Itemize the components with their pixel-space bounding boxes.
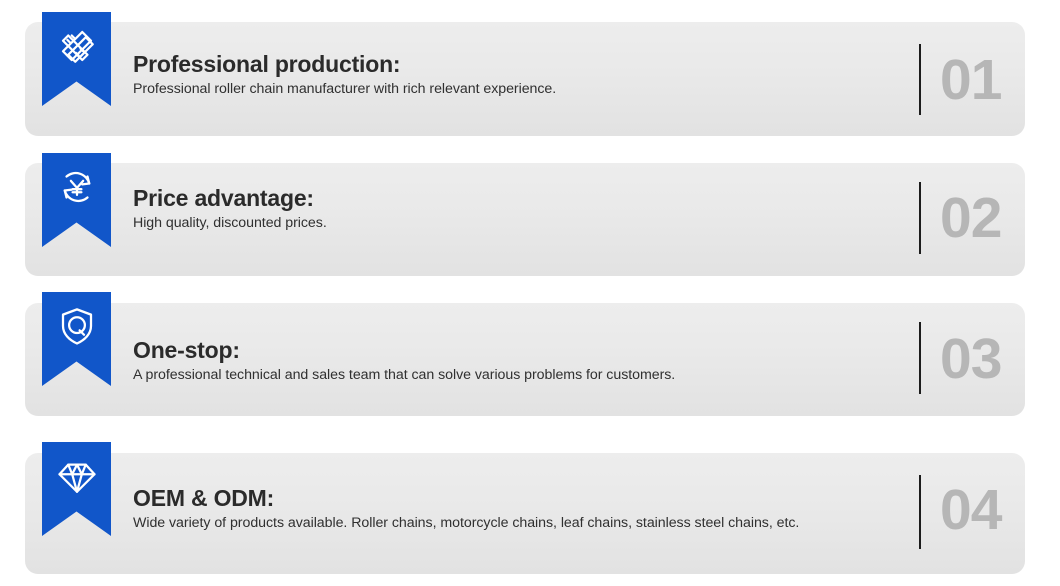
feature-number: 01 [940,52,1025,109]
feature-description: High quality, discounted prices. [133,213,900,233]
number-divider [919,44,921,115]
feature-description: Professional roller chain manufacturer w… [133,79,900,99]
feature-text-3: One-stop: A professional technical and s… [133,336,900,385]
feature-text-4: OEM & ODM: Wide variety of products avai… [133,484,900,533]
feature-text-1: Professional production: Professional ro… [133,50,900,99]
feature-number: 02 [940,190,1025,247]
diamond-icon [56,455,98,497]
feature-text-2: Price advantage: High quality, discounte… [133,184,900,233]
shield-quality-icon [56,305,98,347]
feature-title: One-stop: [133,336,900,364]
feature-description: A professional technical and sales team … [133,365,900,385]
feature-number: 03 [940,331,1025,388]
feature-number: 04 [940,482,1025,539]
feature-title: Professional production: [133,50,900,78]
number-divider [919,182,921,254]
feature-title: Price advantage: [133,184,900,212]
crossed-pen-ruler-icon [56,25,98,67]
features-board: Professional production: Professional ro… [0,0,1060,586]
yen-refresh-icon [56,166,98,208]
number-divider [919,475,921,549]
feature-description: Wide variety of products available. Roll… [133,513,900,533]
number-divider [919,322,921,394]
feature-title: OEM & ODM: [133,484,900,512]
